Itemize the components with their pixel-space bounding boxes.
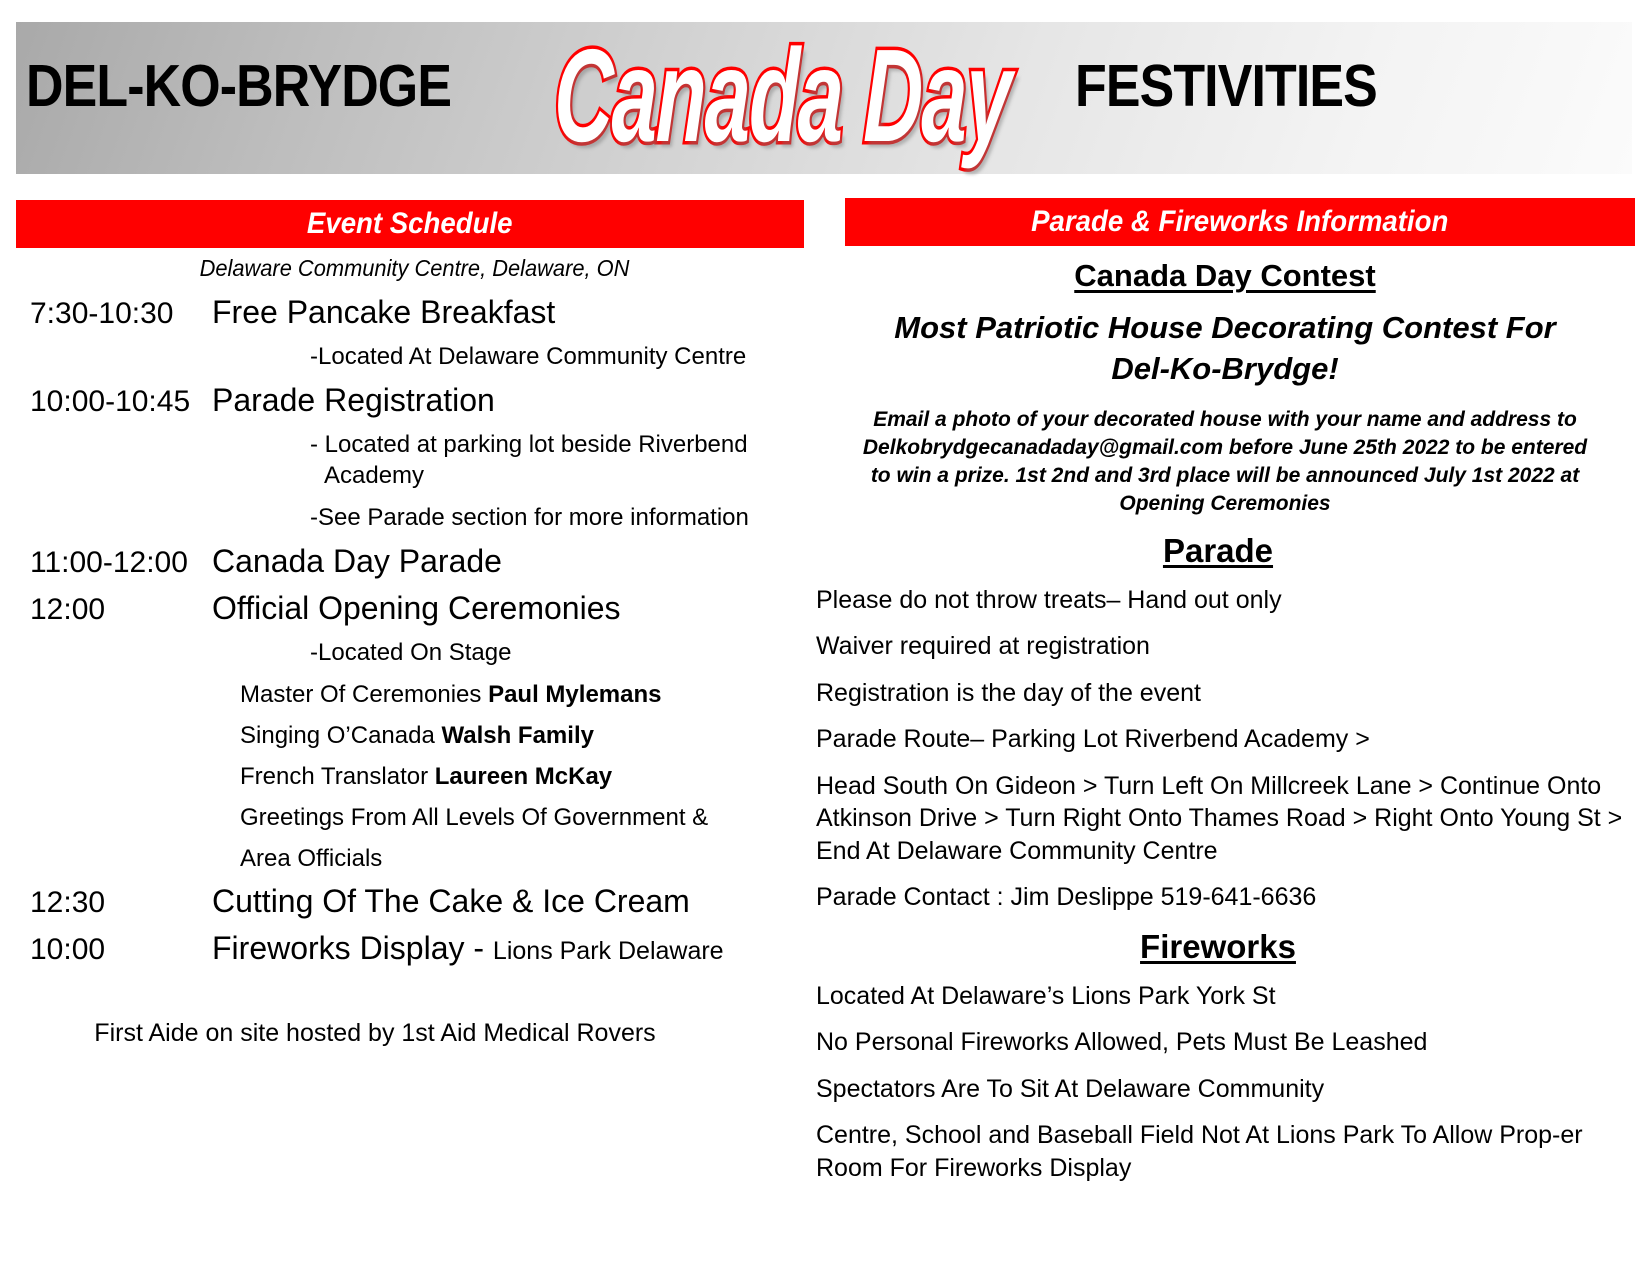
- parade-contact: Parade Contact : Jim Deslippe 519-641-66…: [810, 881, 1640, 914]
- schedule-time: 10:00-10:45: [0, 385, 212, 419]
- schedule-event-main: Fireworks Display -: [212, 930, 493, 966]
- parade-info-line: Please do not throw treats– Hand out onl…: [810, 584, 1640, 617]
- parade-route-details: Head South On Gideon > Turn Left On Mill…: [810, 770, 1640, 868]
- credit-label: French Translator: [240, 763, 435, 790]
- schedule-row: 12:30 Cutting Of The Cake & Ice Cream: [0, 883, 810, 920]
- venue-line: Delaware Community Centre, Delaware, ON: [20, 255, 790, 282]
- schedule-row: 10:00-10:45 Parade Registration: [0, 382, 810, 419]
- contest-instructions: Email a photo of your decorated house wi…: [810, 406, 1640, 518]
- schedule-event: Official Opening Ceremonies: [212, 590, 621, 627]
- fireworks-heading: Fireworks: [810, 928, 1640, 966]
- credit-greetings-line-2: Area Officials: [0, 845, 810, 873]
- schedule-row: 11:00-12:00 Canada Day Parade: [0, 543, 810, 580]
- page-title-left: DEL-KO-BRYDGE: [26, 52, 451, 120]
- contest-subtitle-line-1: Most Patriotic House Decorating Contest …: [830, 308, 1620, 349]
- credit-name: Laureen McKay: [435, 763, 612, 790]
- credit-french-translator: French Translator Laureen McKay: [0, 763, 810, 791]
- schedule-event: Free Pancake Breakfast: [212, 294, 555, 331]
- section-banner-parade-fireworks-label: Parade & Fireworks Information: [1031, 205, 1448, 239]
- credit-greetings-line-1: Greetings From All Levels Of Government …: [0, 804, 810, 832]
- section-banner-event-schedule-label: Event Schedule: [307, 207, 513, 241]
- fireworks-info-line: Located At Delaware’s Lions Park York St: [810, 980, 1640, 1013]
- schedule-sub-note-line: Academy: [310, 460, 810, 491]
- parade-info-line: Registration is the day of the event: [810, 677, 1640, 710]
- schedule-sub-note: -Located At Delaware Community Centre: [0, 341, 810, 372]
- schedule-event: Cutting Of The Cake & Ice Cream: [212, 883, 690, 920]
- schedule-event: Canada Day Parade: [212, 543, 502, 580]
- schedule-sub-note: - Located at parking lot beside Riverben…: [0, 429, 810, 491]
- event-schedule-column: Delaware Community Centre, Delaware, ON …: [0, 255, 810, 1048]
- fireworks-info-line: Spectators Are To Sit At Delaware Commun…: [810, 1073, 1640, 1106]
- schedule-sub-note-line: - Located at parking lot beside Riverben…: [310, 429, 810, 460]
- credit-label: Master Of Ceremonies: [240, 681, 488, 708]
- parade-route-start: Parade Route– Parking Lot Riverbend Acad…: [810, 723, 1640, 756]
- fireworks-info-line: No Personal Fireworks Allowed, Pets Must…: [810, 1026, 1640, 1059]
- contest-heading: Canada Day Contest: [810, 258, 1640, 294]
- schedule-event: Fireworks Display - Lions Park Delaware: [212, 930, 724, 967]
- credit-master-of-ceremonies: Master Of Ceremonies Paul Mylemans: [0, 681, 810, 709]
- contest-subtitle: Most Patriotic House Decorating Contest …: [810, 308, 1640, 390]
- credit-name: Paul Mylemans: [488, 681, 661, 708]
- schedule-time: 11:00-12:00: [0, 546, 212, 580]
- schedule-row: 7:30-10:30 Free Pancake Breakfast: [0, 294, 810, 331]
- schedule-time: 12:30: [0, 886, 212, 920]
- parade-heading: Parade: [810, 532, 1640, 570]
- schedule-event: Parade Registration: [212, 382, 495, 419]
- schedule-sub-note: -See Parade section for more information: [0, 502, 810, 533]
- credit-anthem-singer: Singing O’Canada Walsh Family: [0, 722, 810, 750]
- fireworks-info-line: Centre, School and Baseball Field Not At…: [810, 1119, 1640, 1184]
- schedule-row: 12:00 Official Opening Ceremonies: [0, 590, 810, 627]
- first-aide-note: First Aide on site hosted by 1st Aid Med…: [0, 1019, 810, 1048]
- section-banner-event-schedule: Event Schedule: [16, 200, 804, 248]
- parade-fireworks-column: Canada Day Contest Most Patriotic House …: [810, 258, 1640, 1184]
- credit-label: Singing O’Canada: [240, 722, 441, 749]
- schedule-event-location: Lions Park Delaware: [493, 937, 724, 965]
- schedule-row: 10:00 Fireworks Display - Lions Park Del…: [0, 930, 810, 967]
- parade-info-line: Waiver required at registration: [810, 630, 1640, 663]
- credit-name: Walsh Family: [441, 722, 593, 749]
- schedule-time: 10:00: [0, 933, 212, 967]
- page-title-right: FESTIVITIES: [1075, 52, 1377, 120]
- section-banner-parade-fireworks: Parade & Fireworks Information: [845, 198, 1635, 246]
- canada-day-logo: Canada Day: [553, 18, 1012, 174]
- schedule-sub-note: -Located On Stage: [0, 637, 810, 668]
- schedule-time: 7:30-10:30: [0, 297, 212, 331]
- contest-subtitle-line-2: Del-Ko-Brydge!: [830, 349, 1620, 390]
- schedule-time: 12:00: [0, 593, 212, 627]
